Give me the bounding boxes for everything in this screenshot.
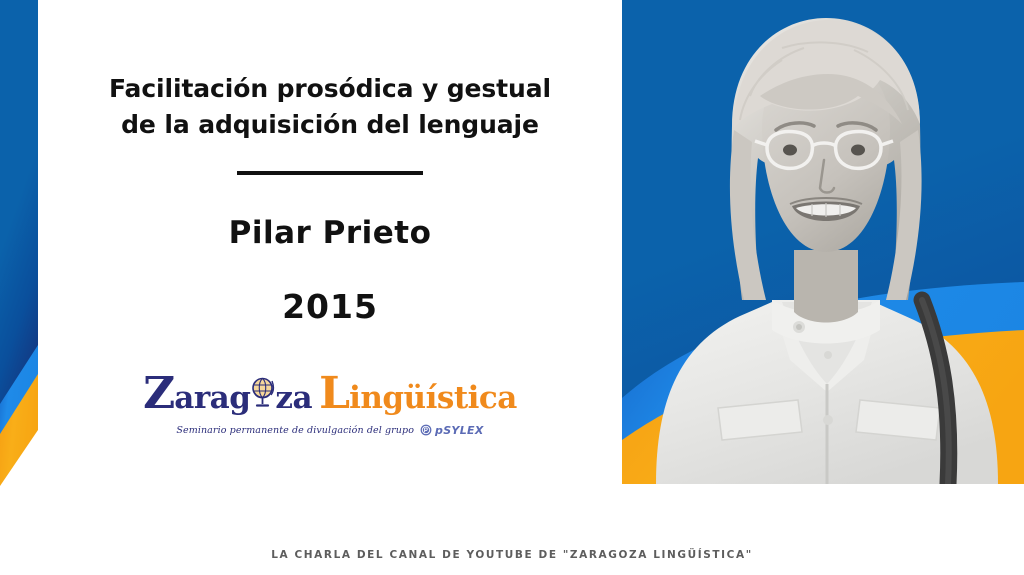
logo-text-ing: ingüística bbox=[349, 383, 517, 414]
footer-caption: LA CHARLA DEL CANAL DE YOUTUBE DE "ZARAG… bbox=[0, 549, 1024, 561]
logo-tagline-row: Seminario permanente de divulgación del … bbox=[143, 421, 517, 440]
title-divider bbox=[237, 171, 423, 175]
page-title: Facilitación prosódica y gestual de la a… bbox=[38, 71, 622, 142]
logo-letter-z: Z bbox=[143, 372, 174, 416]
logo-text-arag: arag bbox=[174, 383, 250, 414]
speaker-portrait bbox=[622, 0, 1024, 484]
slide-text-block: Facilitación prosódica y gestual de la a… bbox=[38, 35, 622, 440]
globe-icon bbox=[250, 377, 275, 408]
psylex-logo[interactable]: pSYLEX bbox=[420, 421, 484, 440]
speaker-name: Pilar Prieto bbox=[38, 215, 622, 251]
logo-wordmark: Z arag za L ingüística bbox=[143, 372, 517, 416]
year-label: 2015 bbox=[38, 287, 622, 326]
slide-root: Facilitación prosódica y gestual de la a… bbox=[0, 0, 1024, 575]
psylex-badge-icon bbox=[420, 421, 432, 440]
logo-tagline: Seminario permanente de divulgación del … bbox=[176, 425, 414, 436]
title-line-2: de la adquisición del lenguaje bbox=[38, 107, 622, 143]
logo-letter-l: L bbox=[319, 372, 349, 416]
psylex-label: pSYLEX bbox=[435, 424, 484, 437]
title-line-1: Facilitación prosódica y gestual bbox=[38, 71, 622, 107]
logo-text-za: za bbox=[275, 383, 312, 414]
portrait-illustration bbox=[622, 0, 1024, 484]
zaragoza-linguistica-logo[interactable]: Z arag za L ingüística bbox=[143, 372, 517, 440]
